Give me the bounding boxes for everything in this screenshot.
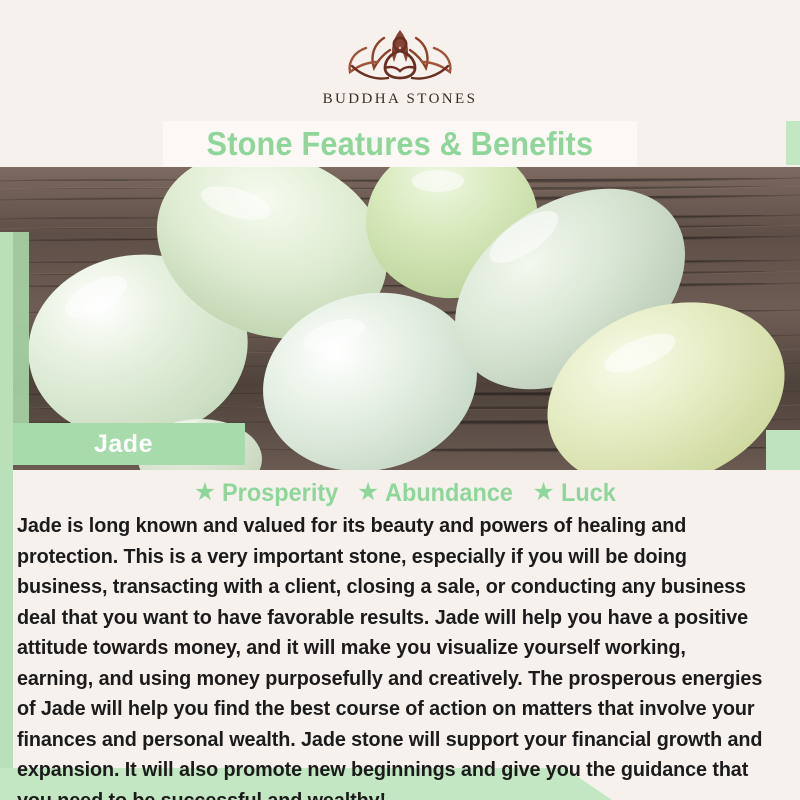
- title-banner: Stone Features & Benefits: [163, 121, 637, 167]
- decorative-green-left-bar: [0, 232, 13, 800]
- lotus-meditation-icon: [344, 22, 456, 84]
- benefit-item: ★ Luck: [532, 479, 619, 508]
- star-icon: ★: [357, 480, 379, 505]
- benefit-label: Luck: [561, 479, 616, 508]
- benefits-row: ★ Prosperity ★ Abundance ★ Luck: [13, 470, 800, 508]
- benefit-label: Prosperity: [222, 479, 338, 508]
- page-title: Stone Features & Benefits: [207, 125, 594, 163]
- benefit-label: Abundance: [385, 479, 513, 508]
- brand-logo: BUDDHA STONES: [323, 22, 478, 108]
- stone-name-tag: Jade: [13, 423, 245, 465]
- stone-description: Jade is long known and valued for its be…: [17, 511, 764, 800]
- stone-name: Jade: [94, 430, 153, 459]
- benefit-item: ★ Prosperity: [194, 479, 346, 508]
- stone-info-poster: BUDDHA STONES Stone Features & Benefits …: [0, 0, 800, 800]
- star-icon: ★: [194, 480, 216, 505]
- content-panel: ★ Prosperity ★ Abundance ★ Luck Jade is …: [13, 470, 800, 768]
- poster-header: BUDDHA STONES: [0, 0, 800, 121]
- star-icon: ★: [532, 480, 554, 505]
- benefit-item: ★ Abundance: [357, 479, 522, 508]
- brand-name: BUDDHA STONES: [323, 91, 478, 108]
